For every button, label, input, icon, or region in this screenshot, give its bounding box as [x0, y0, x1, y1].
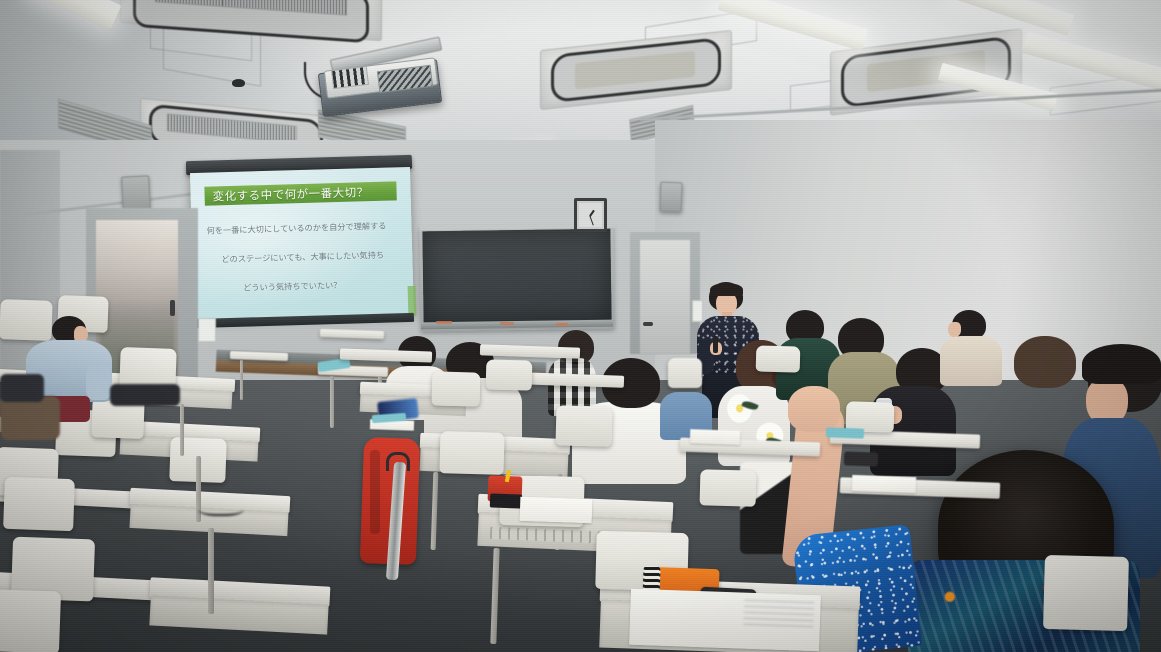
- classroom-photo: 変化する中で何が一番大切？ 何を一番に大切にしているのかを自分で理解する どのス…: [0, 0, 1161, 652]
- clock-face: [579, 203, 602, 227]
- chalk-piece: [436, 321, 452, 324]
- jacket-on-chair: [110, 384, 180, 406]
- microphone[interactable]: [713, 336, 718, 353]
- slide-title-text: 変化する中で何が一番大切？: [212, 184, 368, 204]
- desk-leg: [180, 404, 184, 456]
- student-hair-fringe: [1082, 344, 1161, 384]
- floor-cable: [198, 500, 244, 516]
- door-notice-paper: [198, 318, 216, 342]
- door-right[interactable]: [640, 240, 690, 354]
- chair: [486, 359, 533, 390]
- wall-switch-plate[interactable]: [692, 300, 703, 322]
- worksheet-paper: [852, 475, 917, 493]
- chair: [0, 299, 53, 341]
- door-handle-left[interactable]: [170, 300, 175, 316]
- chair: [668, 358, 702, 388]
- jacket-on-chair: [0, 374, 44, 402]
- presenter-hair-fringe: [710, 283, 743, 296]
- chair: [439, 431, 504, 475]
- student-cream-shirt: [940, 336, 1002, 386]
- worksheet-writing: [743, 595, 814, 627]
- chair: [0, 588, 61, 652]
- umbrella-handle: [386, 452, 410, 471]
- chair: [1043, 555, 1129, 631]
- wall-clock: [574, 198, 607, 232]
- chair: [555, 405, 612, 446]
- bag-on-desk: [0, 396, 60, 440]
- table-leg: [240, 360, 243, 400]
- student-face-profile: [948, 322, 961, 337]
- projection-screen: 変化する中で何が一番大切？ 何を一番に大切にしているのかを自分で理解する どのス…: [190, 167, 414, 321]
- chair: [700, 469, 757, 506]
- chalk-piece: [556, 323, 568, 326]
- ceiling-sensor: [232, 79, 245, 87]
- chair: [3, 477, 75, 531]
- chair: [756, 345, 801, 372]
- worksheet-paper: [690, 429, 740, 445]
- raised-arm-fist: [788, 386, 840, 432]
- student-hair: [1014, 336, 1076, 388]
- person-arm: [86, 364, 112, 400]
- chair: [432, 371, 481, 406]
- backpack-strap: [370, 450, 380, 534]
- teal-folder: [826, 427, 864, 438]
- pencil-case-dark-base: [490, 493, 522, 508]
- worksheet-paper: [520, 497, 593, 523]
- desk-leg: [208, 528, 214, 614]
- wall-speaker: [659, 182, 682, 213]
- screen-right-edge-glow: [408, 286, 417, 316]
- table-leg: [330, 376, 334, 428]
- clock-minute-hand: [589, 216, 594, 226]
- blackboard: [422, 229, 611, 324]
- chalk-piece: [500, 322, 514, 325]
- glasses-case: [844, 451, 878, 466]
- door-handle-right[interactable]: [643, 322, 653, 326]
